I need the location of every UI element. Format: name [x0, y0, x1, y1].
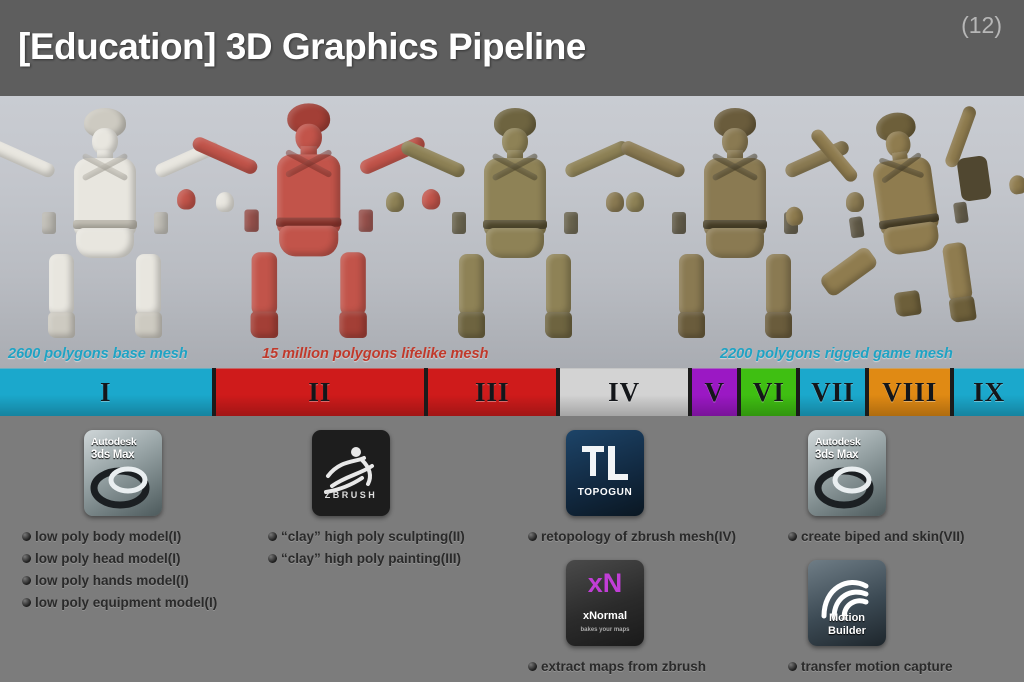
column-rigging: Autodesk3ds Maxcreate biped and skin(VII…: [788, 430, 965, 682]
bullet-dot: [268, 532, 277, 541]
task-bullet-label-line2: animation to biped (VIII): [801, 678, 963, 682]
bullet-dot: [22, 598, 31, 607]
column-modeling: Autodesk3ds Maxlow poly body model(I)low…: [22, 430, 217, 613]
autodesk-3ds-max-icon: Autodesk3ds Max: [84, 430, 162, 516]
page-number: (12): [961, 12, 1002, 39]
task-bullet-label: low poly hands model(I): [35, 570, 189, 592]
tools-and-tasks-area: Autodesk3ds Maxlow poly body model(I)low…: [0, 416, 1024, 682]
stage-numeral: III: [475, 377, 510, 408]
task-bullet-label: transfer motion captureanimation to bipe…: [801, 656, 963, 682]
task-bullet-label: low poly head model(I): [35, 548, 181, 570]
bullet-dot: [788, 662, 797, 671]
task-bullet: create biped and skin(VII): [788, 526, 965, 548]
stage-segment-i[interactable]: I: [0, 368, 212, 416]
showcase-caption: 2200 polygons rigged game mesh: [720, 346, 953, 362]
task-bullet: low poly head model(I): [22, 548, 217, 570]
task-bullet-label: “clay” high poly sculpting(II): [281, 526, 465, 548]
stage-numeral: VIII: [882, 377, 937, 408]
slide-header: [Education] 3D Graphics Pipeline (12): [0, 0, 1024, 96]
stage-segment-vi[interactable]: VI: [741, 368, 796, 416]
stage-numeral: IV: [608, 377, 640, 408]
stage-numeral: V: [704, 377, 725, 408]
bullet-dot: [528, 532, 537, 541]
stage-segment-v[interactable]: V: [692, 368, 737, 416]
task-bullet-label: retopology of zbrush mesh(IV): [541, 526, 736, 548]
zbrush-icon: ZBRUSH: [312, 430, 390, 516]
bullet-dot: [22, 554, 31, 563]
base-mesh-figure: [20, 108, 190, 340]
task-bullet-label-line2: model to game model(V): [541, 678, 707, 682]
column-rigging-bullets: create biped and skin(VII): [788, 526, 965, 548]
task-bullet-label: extract maps from zbrushmodel to game mo…: [541, 656, 707, 682]
column-sculpting: ZBRUSH“clay” high poly sculpting(II)“cla…: [268, 430, 465, 570]
task-bullet: low poly equipment model(I): [22, 592, 217, 614]
painted-figure: [430, 108, 600, 340]
character-showcase: 2600 polygons base mesh15 million polygo…: [0, 96, 1024, 368]
stage-numeral: IX: [973, 377, 1005, 408]
autodesk-3ds-max-icon: Autodesk3ds Max: [808, 430, 886, 516]
column-modeling-bullets: low poly body model(I)low poly head mode…: [22, 526, 217, 613]
xnormal-icon: xNxNormalbakes your maps: [566, 560, 644, 646]
rigged-figure: [815, 102, 1004, 340]
column-sculpting-bullets: “clay” high poly sculpting(II)“clay” hig…: [268, 526, 465, 570]
motionbuilder-icon: MotionBuilder: [808, 560, 886, 646]
sculpt-figure: [222, 103, 395, 340]
stage-segment-iii[interactable]: III: [428, 368, 556, 416]
task-bullet: transfer motion captureanimation to bipe…: [788, 656, 965, 682]
stage-numeral: I: [100, 377, 112, 408]
stage-segment-ix[interactable]: IX: [954, 368, 1024, 416]
bullet-dot: [268, 554, 277, 563]
stage-numeral: VII: [811, 377, 855, 408]
task-bullet: “clay” high poly painting(III): [268, 548, 465, 570]
column-retopology: TOPOGUNretopology of zbrush mesh(IV)xNxN…: [528, 430, 736, 682]
bullet-dot: [788, 532, 797, 541]
task-bullet: low poly body model(I): [22, 526, 217, 548]
stage-segment-vii[interactable]: VII: [800, 368, 865, 416]
stage-segment-iv[interactable]: IV: [560, 368, 688, 416]
page-title: [Education] 3D Graphics Pipeline: [18, 26, 586, 68]
topogun-icon: TOPOGUN: [566, 430, 644, 516]
task-bullet-label: create biped and skin(VII): [801, 526, 965, 548]
column-rigging-bullets-2: transfer motion captureanimation to bipe…: [788, 656, 965, 682]
showcase-caption: 15 million polygons lifelike mesh: [262, 346, 488, 362]
stage-numeral: II: [308, 377, 331, 408]
stage-segment-ii[interactable]: II: [216, 368, 425, 416]
bullet-dot: [528, 662, 537, 671]
bullet-dot: [22, 576, 31, 585]
task-bullet-label: “clay” high poly painting(III): [281, 548, 461, 570]
showcase-caption: 2600 polygons base mesh: [8, 346, 188, 362]
pipeline-stage-bar: IIIIIIIVVVIVIIVIIIIX: [0, 368, 1024, 416]
bullet-dot: [22, 532, 31, 541]
stage-segment-viii[interactable]: VIII: [869, 368, 950, 416]
slide: [Education] 3D Graphics Pipeline (12) 26…: [0, 0, 1024, 682]
task-bullet: low poly hands model(I): [22, 570, 217, 592]
task-bullet: “clay” high poly sculpting(II): [268, 526, 465, 548]
stage-numeral: VI: [753, 377, 785, 408]
column-retopology-bullets: retopology of zbrush mesh(IV): [528, 526, 736, 548]
task-bullet: extract maps from zbrushmodel to game mo…: [528, 656, 736, 682]
task-bullet-label: low poly equipment model(I): [35, 592, 217, 614]
task-bullet: retopology of zbrush mesh(IV): [528, 526, 736, 548]
column-retopology-bullets-2: extract maps from zbrushmodel to game mo…: [528, 656, 736, 682]
task-bullet-label: low poly body model(I): [35, 526, 181, 548]
